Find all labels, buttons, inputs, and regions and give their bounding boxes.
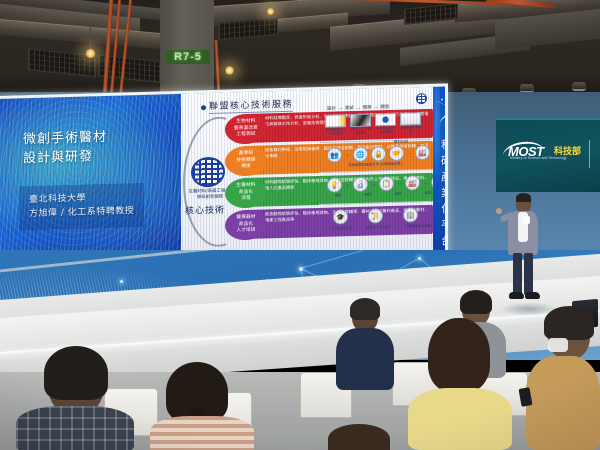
presenter-leg bbox=[513, 253, 522, 295]
service-label-2: 生醫產業聚落鏈結 bbox=[401, 224, 433, 229]
training-icon: 🎓 bbox=[333, 209, 348, 224]
diagram-heading: 聯盟核心技術服務 bbox=[209, 97, 293, 114]
thumb-cell: 生物相容性測試與評估 bbox=[375, 113, 397, 135]
arrow-icon: → bbox=[397, 180, 402, 186]
arrow-icon: → bbox=[338, 105, 343, 111]
arrow-icon: → bbox=[345, 182, 350, 188]
thumb-image bbox=[325, 114, 346, 128]
flow-step-0: 設計 bbox=[327, 106, 336, 112]
thumb-caption-0: 微創導管及介入性醫材 bbox=[325, 127, 347, 136]
audience-torso bbox=[526, 356, 600, 450]
arrow-icon: → bbox=[407, 150, 412, 156]
slide-title-line1: 微創手術醫材 bbox=[23, 129, 107, 150]
flow-top-thumbs: 微創導管及介入性醫材 精密加工及表面改質 生物相容性測試與評估 臨床前動物試驗 bbox=[325, 112, 422, 136]
audience-hair bbox=[350, 298, 380, 320]
hub-label: 核心技術 bbox=[185, 203, 225, 217]
audience-hair bbox=[544, 306, 594, 340]
factory-icon: 🏭 bbox=[415, 145, 430, 160]
presenter-leg bbox=[524, 253, 533, 295]
stage-label-2: 測試 bbox=[387, 191, 409, 196]
stage-spotlight bbox=[572, 82, 586, 91]
ceiling-lamp bbox=[266, 8, 275, 15]
thumb-cell: 精密加工及表面改質 bbox=[350, 113, 372, 135]
thumb-cell: 臨床前動物試驗 bbox=[400, 112, 422, 134]
ceiling-pipe bbox=[215, 40, 221, 96]
lock-icon: 🔒 bbox=[371, 146, 386, 161]
face-mask bbox=[548, 338, 568, 352]
slide-left-panel: 微創手術醫材 設計與研發 臺北科技大學 方旭偉 / 化工系特聘教授 bbox=[0, 94, 181, 273]
presenter-hand bbox=[496, 208, 502, 214]
flow-row-services: 🎓 📜 🏢 bbox=[333, 207, 418, 224]
thumb-cell: 微創導管及介入性醫材 bbox=[325, 114, 347, 136]
audience-torso bbox=[16, 406, 134, 450]
flow-step-2: 預測 bbox=[363, 105, 372, 111]
thumb-caption-3: 臨床前動物試驗 bbox=[400, 125, 422, 134]
test-icon: 📋 bbox=[379, 176, 394, 191]
stage-label-3: 製造 bbox=[417, 191, 433, 196]
presentation-scene: R7-5 MOST 科技部 Ministry of Science and Te… bbox=[0, 0, 600, 450]
idea-icon: 💡 bbox=[327, 177, 342, 192]
arrow-icon: → bbox=[345, 152, 350, 158]
slide-presenter: 方旭偉 / 化工系特聘教授 bbox=[29, 205, 134, 222]
flow-step-3: 開發 bbox=[380, 104, 389, 110]
stage-label-0: 構想 bbox=[327, 193, 349, 198]
bullet-dot-icon bbox=[201, 105, 206, 110]
arrow-icon: → bbox=[371, 181, 376, 187]
audience-torso bbox=[408, 388, 512, 450]
constellation-line bbox=[300, 250, 364, 269]
audience-torso bbox=[150, 416, 254, 450]
flow-mid-row: 👥 → 🌐 🔒 🤝 → 🏭 bbox=[327, 145, 430, 163]
arrow-icon: → bbox=[423, 179, 428, 185]
most-logo-english: Ministry of Science and Technology bbox=[510, 156, 567, 160]
constellation-dot bbox=[120, 280, 123, 283]
ceiling-lamp bbox=[224, 66, 235, 75]
manufacture-icon: 🏭 bbox=[405, 175, 420, 190]
thumb-caption-1: 精密加工及表面改質 bbox=[350, 126, 372, 135]
lamp-stem bbox=[90, 24, 91, 50]
ceiling-grille bbox=[218, 17, 278, 40]
thumb-image bbox=[375, 113, 396, 127]
certification-icon: 📜 bbox=[368, 208, 383, 223]
led-panel: 微創手術醫材 設計與研發 臺北科技大學 方旭偉 / 化工系特聘教授 聯盟核心技術… bbox=[0, 86, 445, 272]
audience-head bbox=[328, 424, 390, 450]
slide-right-panel: MOST 科技部 Ministry of Science and Technol… bbox=[433, 86, 445, 260]
presenter-shoe bbox=[509, 292, 524, 299]
audience-hair bbox=[428, 318, 490, 392]
develop-icon: 🔬 bbox=[353, 177, 368, 192]
service-label-0: 人才培訓與認證 bbox=[325, 226, 355, 231]
audience-torso bbox=[336, 328, 394, 390]
stage-label-1: 開發 bbox=[357, 192, 379, 197]
service-label-1: 產學合作與技轉 bbox=[363, 225, 393, 230]
ceiling: R7-5 bbox=[0, 0, 600, 96]
thumb-caption-2: 生物相容性測試與評估 bbox=[375, 126, 397, 135]
cluster-icon: 🏢 bbox=[403, 207, 418, 222]
arrow-icon: → bbox=[356, 105, 361, 111]
led-screen: 微創手術醫材 設計與研發 臺北科技大學 方旭偉 / 化工系特聘教授 聯盟核心技術… bbox=[0, 83, 448, 276]
arrow-icon: → bbox=[373, 104, 378, 110]
presenter-shoe bbox=[525, 292, 540, 299]
constellation-dot bbox=[299, 267, 303, 271]
most-banner-right: MOST 科技部 Ministry of Science and Technol… bbox=[496, 118, 600, 192]
thumb-image bbox=[400, 112, 421, 126]
flow-row-stages: 💡 → 🔬 → 📋 → 🏭 → 🛒 bbox=[327, 174, 433, 192]
constellation-dot bbox=[418, 257, 421, 260]
presenter-hair bbox=[516, 193, 531, 202]
slide-title: 微創手術醫材 設計與研發 bbox=[23, 129, 107, 169]
thumb-image bbox=[350, 114, 371, 128]
audience-hair bbox=[44, 346, 108, 400]
most-swoosh-icon bbox=[438, 107, 445, 125]
ceiling-lamp bbox=[85, 48, 96, 59]
hall-column bbox=[160, 0, 214, 96]
hall-sign: R7-5 bbox=[166, 50, 210, 64]
banner-divider bbox=[589, 140, 590, 168]
most-logo: MOST 科技部 Ministry of Science and Technol… bbox=[439, 106, 445, 126]
flow-step-1: 測試 bbox=[345, 105, 354, 111]
audience-hair bbox=[460, 290, 492, 314]
people-icon: 👥 bbox=[327, 147, 342, 162]
globe-icon bbox=[416, 93, 427, 104]
handshake-icon: 🤝 bbox=[389, 146, 404, 161]
slide-presenter-block: 臺北科技大學 方旭偉 / 化工系特聘教授 bbox=[19, 183, 144, 230]
slide-center-diagram: 聯盟核心技術服務 生醫材料/表面工程/產學研創新服務 核心技術 材料結構鑑定、表… bbox=[181, 87, 433, 268]
presenter-microphone bbox=[522, 216, 530, 224]
network-icon: 🌐 bbox=[353, 147, 368, 162]
slide-title-line2: 設計與研發 bbox=[23, 148, 107, 169]
network-dot bbox=[441, 99, 443, 101]
